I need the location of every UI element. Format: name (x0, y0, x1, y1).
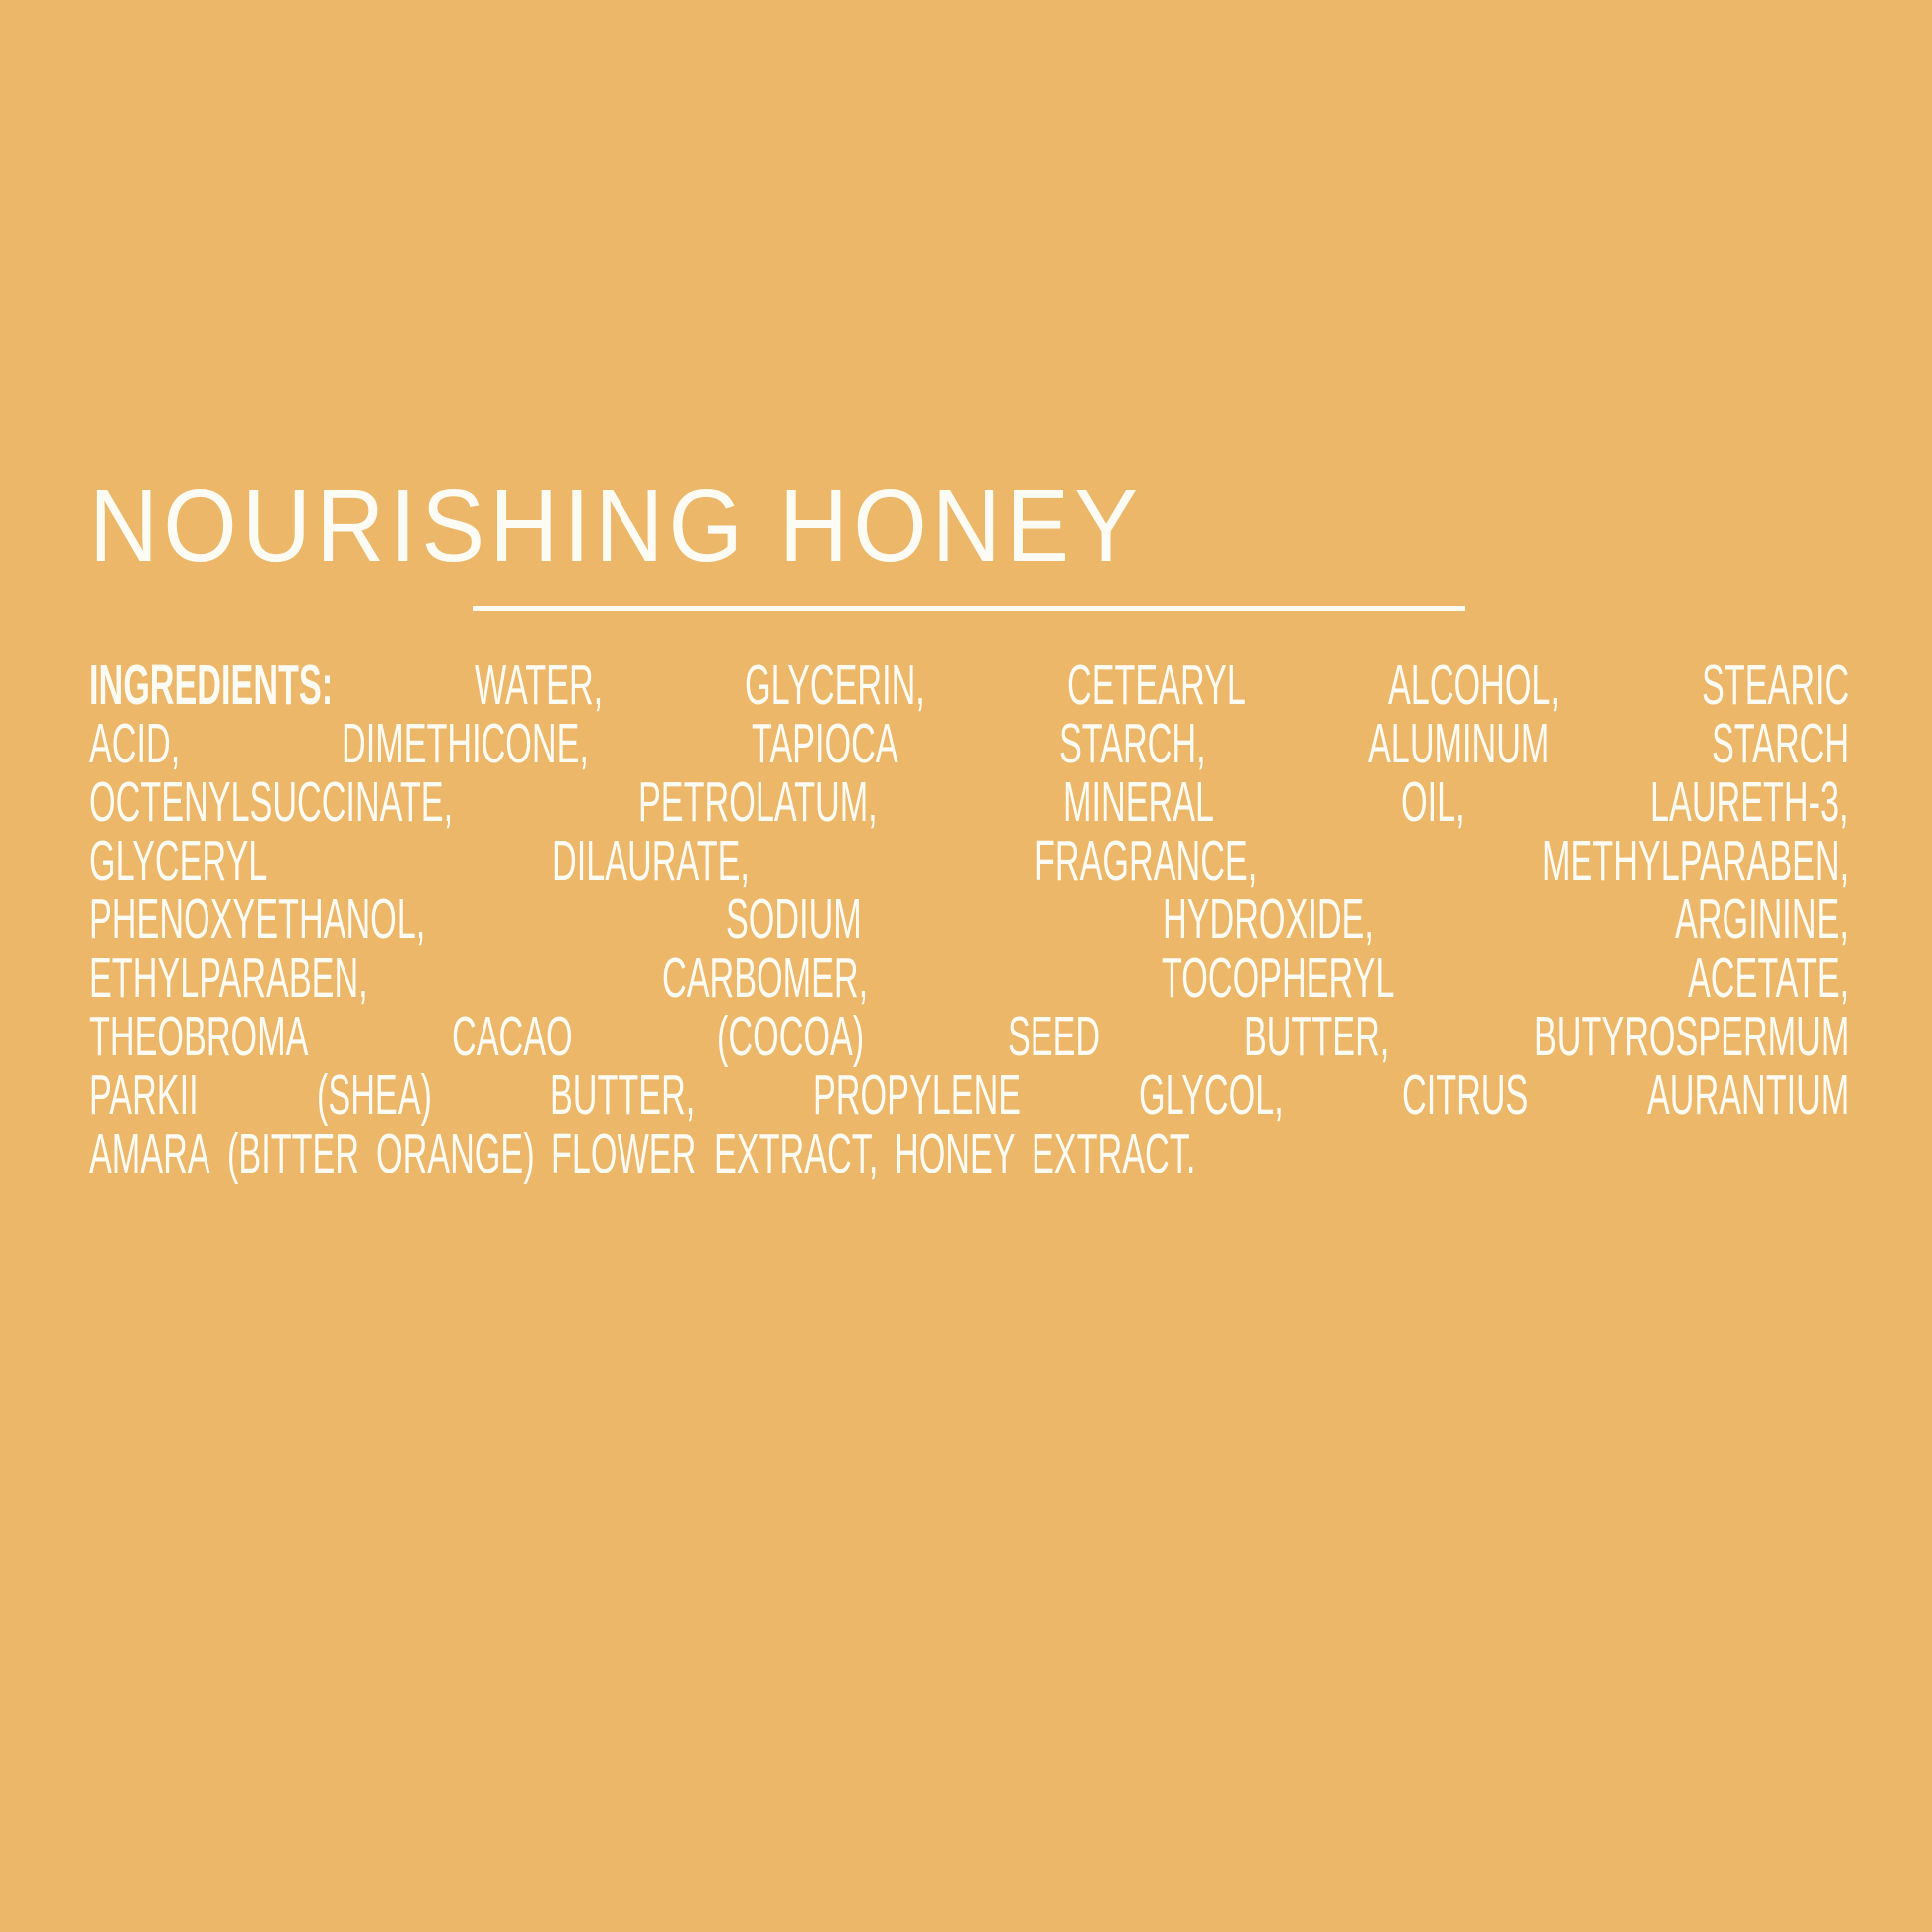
ingredient-word-text: TAPIOCA (752, 715, 898, 773)
ingredient-word: TOCOPHERYL (1162, 949, 1394, 1008)
ingredients-line: OCTENYLSUCCINATE,PETROLATUM,MINERALOIL,L… (89, 773, 1849, 832)
ingredient-word-text: ARGININE, (1675, 891, 1849, 949)
ingredient-word: OIL, (1401, 773, 1465, 832)
ingredient-word-text: GLYCOL, (1139, 1066, 1284, 1125)
ingredient-word-text: TOCOPHERYL (1162, 949, 1394, 1008)
ingredients-line: INGREDIENTS:WATER,GLYCERIN,CETEARYLALCOH… (89, 656, 1849, 715)
ingredients-line: PARKII(SHEA)BUTTER,PROPYLENEGLYCOL,CITRU… (89, 1066, 1849, 1125)
ingredient-word-text: OIL, (1401, 773, 1465, 832)
ingredient-word-text: BUTTER, (1244, 1008, 1389, 1066)
ingredient-word-text: (SHEA) (317, 1066, 432, 1125)
ingredient-word: DIMETHICONE, (342, 715, 589, 773)
ingredient-word: WATER, (475, 656, 603, 715)
ingredients-line: THEOBROMACACAO(COCOA)SEEDBUTTER,BUTYROSP… (89, 1008, 1849, 1066)
ingredient-word-text: METHYLPARABEN, (1542, 832, 1849, 891)
ingredient-word: ALCOHOL, (1388, 656, 1560, 715)
ingredient-word: OCTENYLSUCCINATE, (89, 773, 453, 832)
ingredient-word: PHENOXYETHANOL, (89, 891, 425, 949)
ingredients-line: GLYCERYLDILAURATE,FRAGRANCE,METHYLPARABE… (89, 832, 1849, 891)
ingredient-word-text: STARCH, (1059, 715, 1206, 773)
ingredient-word: ACETATE, (1688, 949, 1849, 1008)
page-title: NOURISHING HONEY (89, 475, 1725, 578)
ingredient-word-text: ORANGE) (376, 1125, 535, 1183)
ingredient-word-text: OCTENYLSUCCINATE, (89, 773, 453, 832)
ingredient-word-text: STEARIC (1702, 656, 1849, 715)
ingredient-word-text: ALCOHOL, (1388, 656, 1560, 715)
title-divider (473, 606, 1465, 611)
ingredient-word: FRAGRANCE, (1035, 832, 1257, 891)
ingredient-word: GLYCERYL (89, 832, 267, 891)
ingredient-word: PETROLATUM, (638, 773, 878, 832)
ingredients-line: AMARA(BITTERORANGE)FLOWEREXTRACT,HONEYEX… (89, 1125, 1849, 1183)
ingredient-word-text: DIMETHICONE, (342, 715, 589, 773)
ingredient-word: SODIUM (726, 891, 862, 949)
ingredient-word-text: SODIUM (726, 891, 862, 949)
ingredient-word: CITRUS (1402, 1066, 1528, 1125)
ingredient-word-text: AURANTIUM (1647, 1066, 1849, 1125)
ingredient-word-text: EXTRACT, (714, 1125, 878, 1183)
ingredient-word: PROPYLENE (813, 1066, 1021, 1125)
ingredient-word: GLYCERIN, (745, 656, 925, 715)
ingredient-word-text: BUTYROSPERMUM (1534, 1008, 1849, 1066)
ingredient-word: METHYLPARABEN, (1542, 832, 1849, 891)
ingredient-word-text: AMARA (89, 1125, 210, 1183)
ingredient-word-text: CACAO (452, 1008, 573, 1066)
ingredients-line: ETHYLPARABEN,CARBOMER,TOCOPHERYLACETATE, (89, 949, 1849, 1008)
ingredient-word: SEED (1008, 1008, 1100, 1066)
ingredient-word-text: ACETATE, (1688, 949, 1849, 1008)
ingredient-word-text: ACID, (89, 715, 180, 773)
ingredients-label: INGREDIENTS: (89, 656, 333, 715)
ingredient-word-text: LAURETH-3, (1650, 773, 1849, 832)
ingredient-word: DILAURATE, (552, 832, 750, 891)
ingredient-word-text: GLYCERYL (89, 832, 267, 891)
ingredient-word: HYDROXIDE, (1163, 891, 1374, 949)
ingredients-line: PHENOXYETHANOL,SODIUMHYDROXIDE,ARGININE, (89, 891, 1849, 949)
ingredient-word: STEARIC (1702, 656, 1849, 715)
ingredient-word-text: BUTTER, (550, 1066, 695, 1125)
ingredient-word: ORANGE) (376, 1125, 535, 1183)
ingredient-word: ACID, (89, 715, 180, 773)
ingredient-word: STARCH, (1059, 715, 1206, 773)
ingredient-word: HONEY (895, 1125, 1016, 1183)
ingredient-word-text: (COCOA) (717, 1008, 864, 1066)
ingredient-word-text: HYDROXIDE, (1163, 891, 1374, 949)
ingredient-word: BUTTER, (1244, 1008, 1389, 1066)
ingredient-word-text: EXTRACT. (1032, 1125, 1195, 1183)
ingredient-word-text: DILAURATE, (552, 832, 750, 891)
ingredient-word: AMARA (89, 1125, 210, 1183)
ingredient-word: BUTYROSPERMUM (1534, 1008, 1849, 1066)
ingredient-word-text: THEOBROMA (89, 1008, 308, 1066)
ingredient-word-text: INGREDIENTS: (89, 656, 333, 715)
ingredient-word: ALUMINUM (1368, 715, 1549, 773)
ingredient-word-text: PHENOXYETHANOL, (89, 891, 425, 949)
ingredient-word-text: MINERAL (1063, 773, 1214, 832)
ingredient-word: BUTTER, (550, 1066, 695, 1125)
ingredient-word: CETEARYL (1067, 656, 1246, 715)
ingredient-word: (COCOA) (717, 1008, 864, 1066)
ingredient-word-text: CITRUS (1402, 1066, 1528, 1125)
ingredient-word-text: WATER, (475, 656, 603, 715)
ingredient-word-text: FLOWER (551, 1125, 696, 1183)
ingredient-word-text: CETEARYL (1067, 656, 1246, 715)
ingredient-word: TAPIOCA (752, 715, 898, 773)
ingredient-word-text: ETHYLPARABEN, (89, 949, 368, 1008)
ingredient-word: (BITTER (227, 1125, 359, 1183)
ingredient-label-panel: NOURISHING HONEY INGREDIENTS:WATER,GLYCE… (0, 0, 1932, 1932)
ingredient-word-text: (BITTER (227, 1125, 359, 1183)
ingredient-word: EXTRACT, (714, 1125, 878, 1183)
ingredients-line: ACID,DIMETHICONE,TAPIOCASTARCH,ALUMINUMS… (89, 715, 1849, 773)
ingredient-word: EXTRACT. (1032, 1125, 1195, 1183)
ingredient-word-text: FRAGRANCE, (1035, 832, 1257, 891)
ingredient-word-text: PARKII (89, 1066, 199, 1125)
ingredient-word-text: PROPYLENE (813, 1066, 1021, 1125)
label-content-block: NOURISHING HONEY INGREDIENTS:WATER,GLYCE… (89, 475, 1849, 1183)
ingredient-word: CACAO (452, 1008, 573, 1066)
ingredient-word-text: PETROLATUM, (638, 773, 878, 832)
ingredient-word: PARKII (89, 1066, 199, 1125)
ingredient-word: THEOBROMA (89, 1008, 308, 1066)
ingredient-word: LAURETH-3, (1650, 773, 1849, 832)
ingredient-word: GLYCOL, (1139, 1066, 1284, 1125)
ingredient-word-text: CARBOMER, (662, 949, 868, 1008)
ingredient-word-text: SEED (1008, 1008, 1100, 1066)
ingredient-word: FLOWER (551, 1125, 696, 1183)
ingredient-word: (SHEA) (317, 1066, 432, 1125)
ingredient-word: CARBOMER, (662, 949, 868, 1008)
ingredient-word-text: HONEY (895, 1125, 1016, 1183)
ingredient-word: STARCH (1712, 715, 1849, 773)
ingredient-word-text: STARCH (1712, 715, 1849, 773)
ingredient-word: AURANTIUM (1647, 1066, 1849, 1125)
ingredient-word: MINERAL (1063, 773, 1214, 832)
ingredients-paragraph: INGREDIENTS:WATER,GLYCERIN,CETEARYLALCOH… (89, 656, 1849, 1183)
ingredient-word-text: GLYCERIN, (745, 656, 925, 715)
ingredient-word: ETHYLPARABEN, (89, 949, 368, 1008)
ingredient-word: ARGININE, (1675, 891, 1849, 949)
ingredient-word-text: ALUMINUM (1368, 715, 1549, 773)
